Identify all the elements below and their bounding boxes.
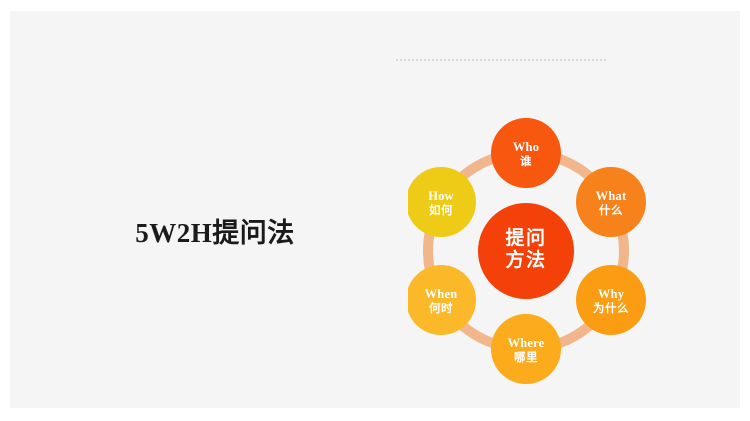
page-title: 5W2H提问法	[50, 211, 380, 250]
center-hub-circle	[478, 203, 574, 299]
node-circle-why	[576, 265, 646, 335]
node-circle-what	[576, 167, 646, 237]
dotted-divider-icon	[396, 59, 608, 61]
node-circle-how	[408, 167, 476, 237]
5w2h-cycle-diagram: Who 谁 What 什么 Why 为什么 Where 哪里 When 何时 H…	[408, 99, 648, 404]
node-circle-where	[491, 314, 561, 384]
slide-canvas: 5W2H提问法 Who 谁 What 什么 Why 为什么	[10, 11, 740, 408]
node-circle-when	[408, 265, 476, 335]
node-circle-who	[491, 118, 561, 188]
